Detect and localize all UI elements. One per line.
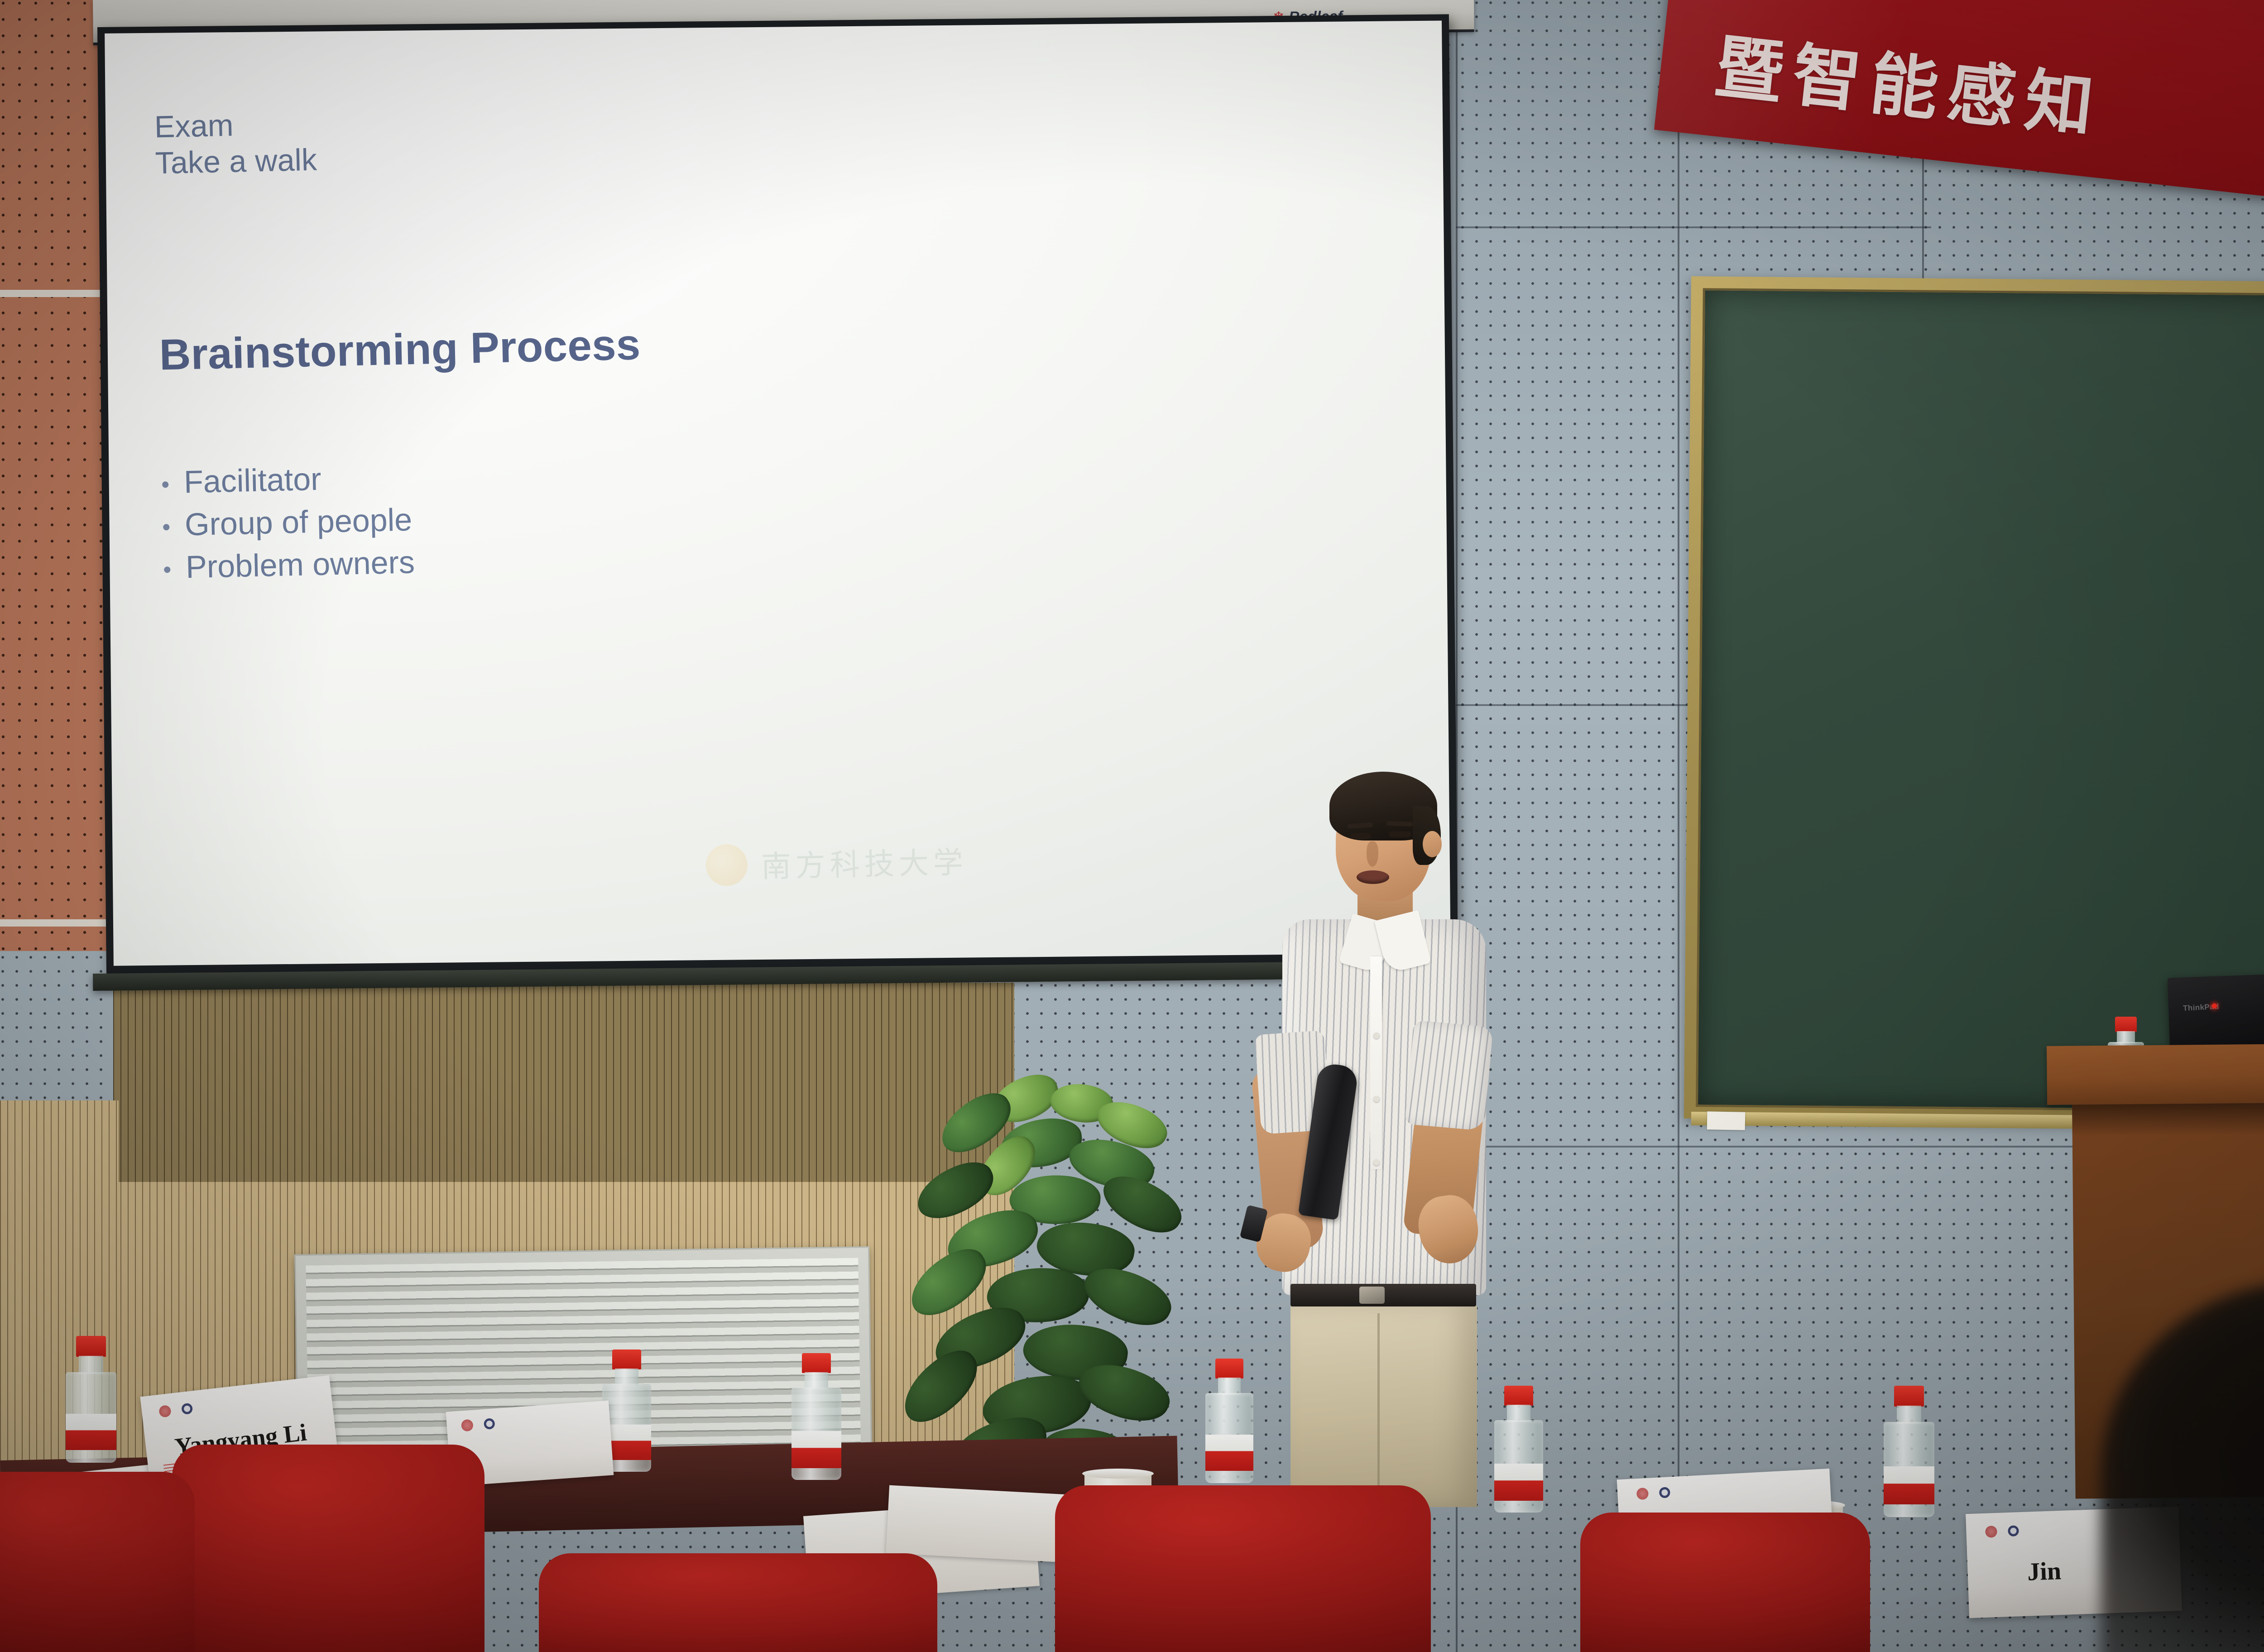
- blue-ring-logo-icon: [2008, 1525, 2019, 1537]
- presenter-eyebrow-right: [1386, 821, 1413, 826]
- presenter-person: [1263, 752, 1517, 1503]
- presenter-eye-left: [1350, 833, 1371, 839]
- name-card-logos: ​ ​: [158, 1402, 198, 1418]
- presenter-trousers: [1290, 1303, 1477, 1507]
- lecture-hall-scene: ❄ Redleaf Exam Take a walk Brainstorming…: [0, 0, 2264, 1652]
- water-bottle[interactable]: [1205, 1359, 1253, 1483]
- name-card-org-right: ​: [1675, 1489, 1676, 1495]
- red-seal-logo-icon: [461, 1419, 474, 1431]
- belt-buckle: [1359, 1287, 1385, 1304]
- blue-ring-logo-icon: [1659, 1487, 1670, 1498]
- bullet-dot-icon: [163, 524, 169, 530]
- wall-seam-horizontal: [1456, 704, 1696, 706]
- slide-subhead: Exam Take a walk: [154, 106, 317, 182]
- bullet-dot-icon: [162, 481, 168, 488]
- university-emblem-icon: [705, 844, 748, 886]
- water-bottle[interactable]: [1494, 1386, 1543, 1513]
- presenter-shirt-placket: [1370, 956, 1382, 1169]
- podium-shadow: [2072, 1101, 2264, 1137]
- slide-subhead-line-2: Take a walk: [155, 142, 317, 181]
- name-card-name: [448, 1436, 611, 1448]
- name-card-logos: ​: [461, 1417, 495, 1431]
- presenter-nose: [1367, 841, 1378, 867]
- slide-bullet-label: Group of people: [184, 499, 413, 546]
- projection-screen-surface: Exam Take a walk Brainstorming Process F…: [105, 20, 1451, 965]
- name-card-org-left: ​: [479, 1421, 479, 1428]
- slide-bullet-list: Facilitator Group of people Problem owne…: [162, 456, 415, 589]
- water-bottle[interactable]: [791, 1353, 841, 1480]
- name-card-org-right: ​: [2024, 1527, 2025, 1534]
- name-card-org-right: ​: [197, 1404, 198, 1411]
- name-card-logos: ​ ​: [1636, 1486, 1676, 1500]
- shirt-button: [1373, 1032, 1380, 1039]
- wall-seam-vertical: [1678, 0, 1679, 1652]
- name-card-org-left: ​: [176, 1407, 177, 1413]
- slide-subhead-line-1: Exam: [154, 106, 317, 145]
- cup-rim: [1082, 1469, 1154, 1479]
- red-seal-logo-icon: [1636, 1488, 1649, 1500]
- blue-ring-logo-icon: [484, 1418, 495, 1430]
- presenter-ear: [1423, 831, 1442, 857]
- water-bottle[interactable]: [66, 1336, 116, 1463]
- slide-watermark-label: 南方科技大学: [761, 838, 968, 886]
- slide-bullet-item: Facilitator: [162, 456, 413, 504]
- chair-back[interactable]: [539, 1553, 937, 1652]
- presenter-eye-right: [1389, 831, 1411, 837]
- slide-bullet-item: Problem owners: [163, 541, 415, 589]
- presenter-mouth: [1357, 870, 1389, 884]
- paper-sheet[interactable]: [886, 1485, 1070, 1563]
- name-card-org-left: ​: [2003, 1528, 2003, 1535]
- name-card-name: Jin: [2027, 1556, 2062, 1587]
- slide-title: Brainstorming Process: [159, 320, 641, 380]
- wall-seam-horizontal: [1456, 226, 1931, 228]
- name-card-org-left: ​: [1654, 1490, 1654, 1497]
- trouser-seam: [1377, 1313, 1380, 1508]
- bullet-dot-icon: [164, 567, 170, 573]
- wall-notice-paper: [1707, 1111, 1746, 1130]
- shirt-button: [1373, 1096, 1380, 1102]
- slide-bullet-label: Facilitator: [183, 458, 321, 504]
- red-seal-logo-icon: [158, 1405, 172, 1418]
- red-seal-logo-icon: [1985, 1525, 1997, 1537]
- name-card-logos: ​ ​: [1985, 1524, 2024, 1537]
- slide-bullet-label: Problem owners: [185, 541, 415, 589]
- blue-ring-logo-icon: [181, 1403, 193, 1415]
- chair-back[interactable]: [1055, 1485, 1431, 1652]
- slide-bullet-item: Group of people: [163, 499, 414, 547]
- water-bottle[interactable]: [1884, 1386, 1934, 1517]
- chair-back[interactable]: [172, 1445, 484, 1652]
- wood-slat-wainscot-upper: [113, 983, 1014, 1182]
- chair-back[interactable]: [1580, 1513, 1870, 1652]
- presenter-sleeve-right: [1405, 1020, 1493, 1131]
- chair-back[interactable]: [0, 1472, 195, 1652]
- projection-screen-frame: Exam Take a walk Brainstorming Process F…: [97, 14, 1458, 976]
- podium-top-surface: [2047, 1042, 2264, 1105]
- slide-watermark: 南方科技大学: [705, 838, 968, 888]
- presentation-slide: Exam Take a walk Brainstorming Process F…: [105, 20, 1451, 965]
- shirt-button: [1373, 1159, 1380, 1166]
- potted-plant: [887, 1078, 1204, 1485]
